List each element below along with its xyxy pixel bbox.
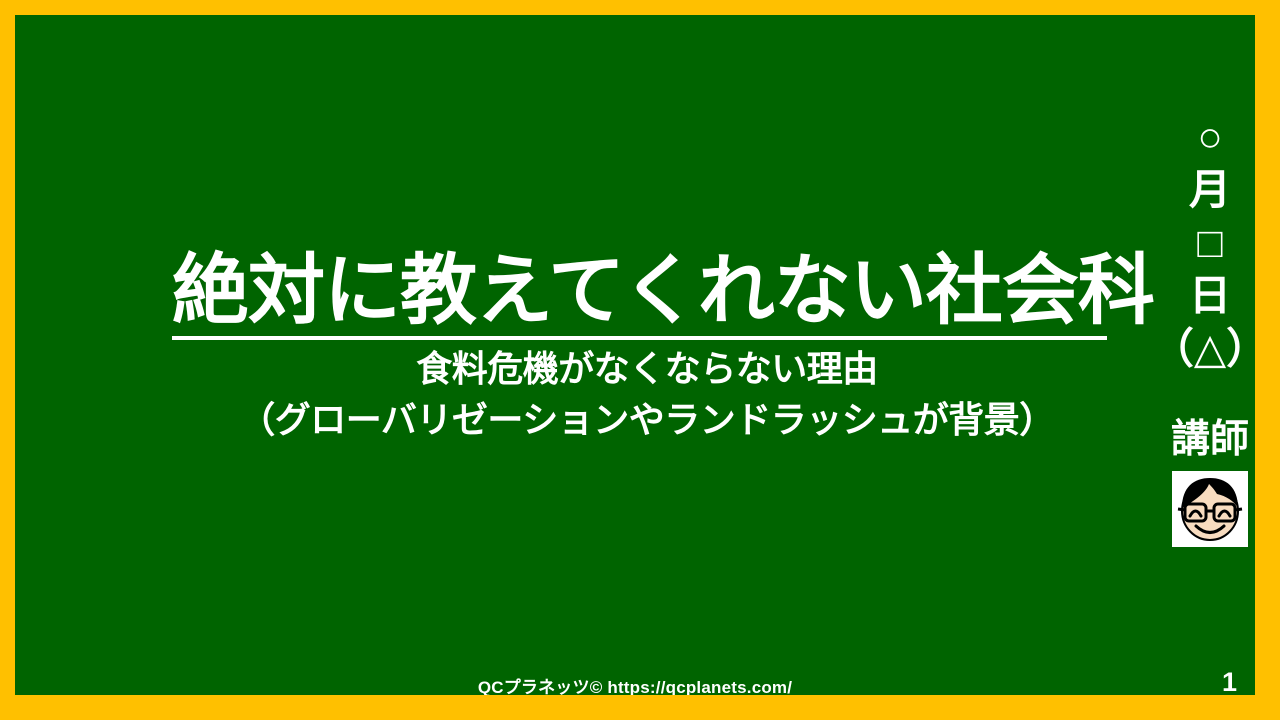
slide-frame: 絶対に教えてくれない社会科 食料危機がなくならない理由 （グローバリゼーションや… xyxy=(0,0,1280,720)
date-day-label: 日 xyxy=(1150,269,1255,322)
date-weekday-mark: （△） xyxy=(1150,322,1255,375)
date-month-mark: ○ xyxy=(1150,110,1255,163)
subtitle-primary: 食料危機がなくならない理由 xyxy=(172,345,1122,394)
title-underline-rule xyxy=(172,336,1107,340)
title-block: 絶対に教えてくれない社会科 食料危機がなくならない理由 （グローバリゼーションや… xyxy=(172,253,1122,444)
date-placeholder: ○ 月 □ 日 （△） xyxy=(1150,110,1255,375)
date-month-label: 月 xyxy=(1150,163,1255,216)
lecturer-label: 講師 xyxy=(1150,417,1255,463)
page-title: 絶対に教えてくれない社会科 xyxy=(172,253,1122,330)
footer-credit: QCプラネッツ© https://qcplanets.com/ xyxy=(15,673,1255,695)
slide-content-area: 絶対に教えてくれない社会科 食料危機がなくならない理由 （グローバリゼーションや… xyxy=(15,15,1255,695)
page-number: 1 xyxy=(1222,667,1237,695)
person-face-glasses-icon xyxy=(1172,471,1248,547)
lecturer-block: 講師 xyxy=(1150,417,1255,547)
date-day-mark: □ xyxy=(1150,216,1255,269)
subtitle-secondary: （グローバリゼーションやランドラッシュが背景） xyxy=(172,396,1122,445)
